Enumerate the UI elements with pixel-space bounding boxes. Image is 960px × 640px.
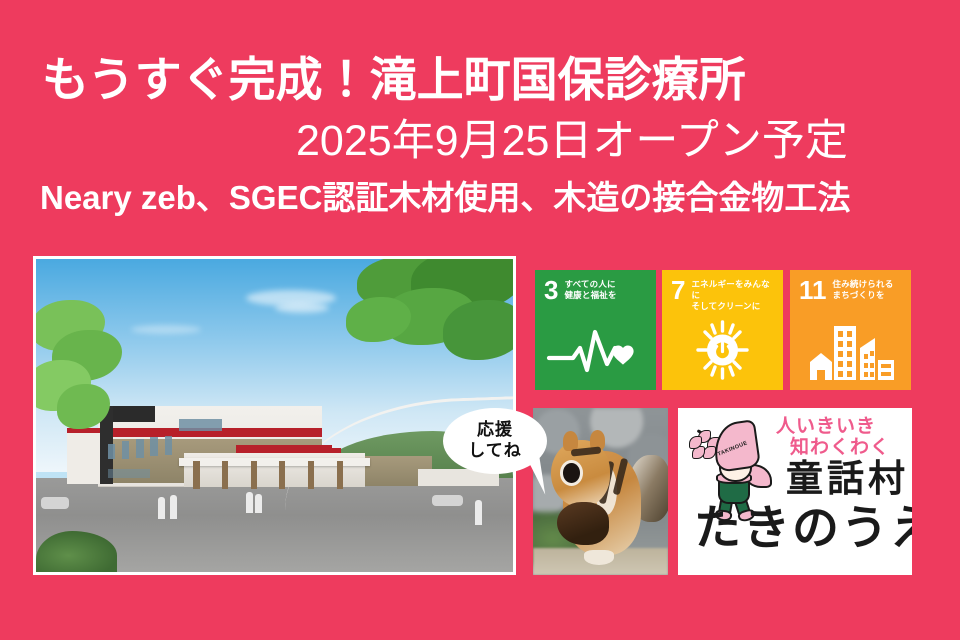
sdg-card-7-number: 7 [671,279,685,302]
sdg-card-11-header: 11 住み続けられる まちづくりを [799,279,905,302]
tree-foliage-left [36,297,146,447]
sdg-card-3-header: 3 すべての人に 健康と福祉を [544,279,650,302]
sdg-card-11-title: 住み続けられる まちづくりを [833,279,894,301]
canopy-column [308,461,314,489]
city-buildings-icon [790,318,911,382]
town-logo: TAKINOUE 人いきいき 知わくわく 童話村 たきのうえ [678,408,912,575]
mascot-fairy: TAKINOUE [688,420,780,512]
window [165,436,173,455]
canopy-column [193,461,199,489]
sdg-card-11-title-line2: まちづくりを [833,290,894,301]
person-silhouette [255,494,262,513]
town-logo-kana: たきのうえ [694,504,912,551]
speech-bubble-line1: 応援 [477,420,513,441]
person-silhouette [158,497,165,519]
sdg-card-11[interactable]: 11 住み続けられる まちづくりを [790,270,911,390]
building-render-frame [33,256,516,575]
car [432,495,463,506]
canopy-column [337,461,343,489]
chipmunk-photo [533,408,668,575]
poster-canvas: もうすぐ完成！滝上町国保診療所 2025年9月25日オープン予定 Neary z… [0,0,960,640]
building-render-photo [36,259,513,572]
speech-bubble: 応援 してね [443,408,547,474]
person-silhouette [170,495,177,518]
sdg-card-11-title-line1: 住み続けられる [833,279,894,290]
sdg-card-3-title-line1: すべての人に [564,279,616,290]
headline-open-date: 2025年9月25日オープン予定 [296,120,848,163]
town-logo-kanji: 童話村 [786,460,909,497]
tree-foliage-right [339,259,513,399]
canopy-column [279,461,285,489]
headline-primary: もうすぐ完成！滝上町国保診療所 [42,56,746,103]
speech-bubble-line2: してね [468,441,522,462]
cloud [275,303,329,313]
sdg-card-7-title: エネルギーをみんなに そしてクリーンに [691,279,777,313]
window [150,437,158,456]
town-logo-catchphrase: 人いきいき 知わくわく [776,416,890,459]
town-logo-catch-line1: 人いきいき [776,416,876,437]
sdg-card-7[interactable]: 7 エネルギーをみんなに そしてクリーンに [662,270,783,390]
heartbeat-icon [535,318,656,382]
person-silhouette [246,492,253,512]
sdg-card-7-title-line2: そしてクリーンに [691,301,777,312]
car [41,497,70,510]
sdg-card-11-number: 11 [799,279,827,302]
sdg-card-3[interactable]: 3 すべての人に 健康と福祉を [535,270,656,390]
sun-power-icon [662,318,783,382]
sdg-card-3-number: 3 [544,279,558,302]
canopy-column [251,461,257,489]
window-strip [108,469,151,478]
sdg-card-3-title: すべての人に 健康と福祉を [564,279,616,301]
town-logo-catch-line2: 知わくわく [790,437,890,458]
chipmunk-nut [557,502,608,545]
window-strip [179,419,222,432]
sdg-card-7-header: 7 エネルギーをみんなに そしてクリーンに [671,279,777,313]
canopy-column [222,461,228,489]
chipmunk-foot [584,550,614,565]
headline-subtitle: Neary zeb、SGEC認証木材使用、木造の接合金物工法 [40,181,850,214]
sdg-card-7-title-line1: エネルギーをみんなに [691,279,777,301]
cherry-blossom-icon [690,430,718,458]
person-silhouette [475,500,482,525]
sdg-card-3-title-line2: 健康と福祉を [564,290,616,301]
